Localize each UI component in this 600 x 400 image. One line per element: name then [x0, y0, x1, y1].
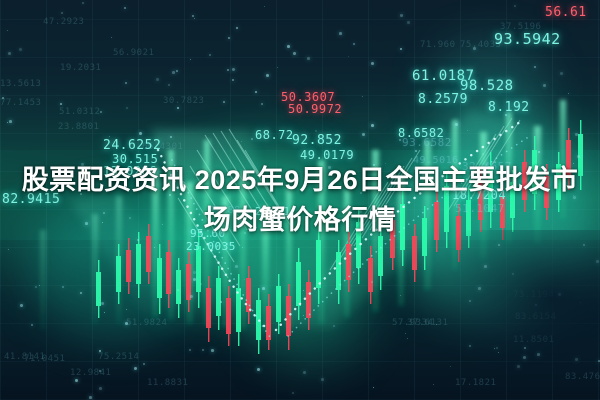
particle-dot — [170, 136, 172, 138]
particle-dot — [60, 103, 62, 105]
particle-dot — [99, 350, 101, 352]
particle-dot — [560, 72, 563, 75]
particle-dot — [255, 91, 257, 93]
particle-dot — [31, 324, 33, 326]
particle-dot — [473, 47, 476, 50]
particle-dot — [190, 295, 193, 298]
particle-dot — [82, 2, 84, 4]
particle-dot — [189, 349, 191, 351]
particle-dot — [61, 12, 63, 14]
particle-dot — [251, 138, 253, 140]
particle-dot — [8, 52, 11, 55]
particle-dot — [19, 48, 22, 51]
particle-dot — [89, 396, 92, 399]
particle-dot — [111, 37, 112, 38]
particle-dot — [241, 141, 242, 142]
particle-dot — [538, 151, 540, 153]
particle-dot — [333, 325, 335, 327]
particle-dot — [172, 71, 175, 74]
particle-dot — [505, 114, 507, 116]
page-title-line-1: 股票配资资讯 2025年9月26日全国主要批发市 — [0, 160, 600, 200]
page-title-line-2: 场肉蟹价格行情 — [0, 200, 600, 240]
particle-dot — [209, 54, 211, 56]
particle-dot — [232, 68, 235, 71]
particle-dot — [307, 57, 310, 60]
particle-dot — [543, 84, 546, 87]
particle-dot — [75, 379, 78, 382]
particle-dot — [126, 107, 128, 109]
particle-dot — [139, 132, 142, 135]
particle-dot — [176, 70, 178, 72]
particle-dot — [100, 111, 102, 113]
particle-dot — [192, 15, 194, 17]
particle-dot — [177, 107, 179, 109]
particle-dot — [339, 32, 342, 35]
particle-dot — [293, 52, 296, 55]
particle-dot — [423, 128, 425, 130]
page-title: 股票配资资讯 2025年9月26日全国主要批发市 场肉蟹价格行情 — [0, 160, 600, 240]
particle-dot — [371, 62, 374, 65]
particle-dot — [575, 133, 578, 136]
particle-dot — [400, 48, 402, 50]
particle-dot — [9, 120, 12, 123]
particle-dot — [168, 84, 170, 86]
particle-dot — [400, 14, 403, 17]
particle-dot — [223, 101, 225, 103]
particle-dot — [156, 78, 159, 81]
particle-dot — [244, 279, 245, 280]
particle-dot — [577, 155, 580, 158]
background-right-vignette — [370, 230, 600, 400]
particle-dot — [303, 371, 306, 374]
particle-dot — [257, 368, 260, 371]
particle-dot — [371, 124, 374, 127]
particle-dot — [455, 123, 458, 126]
particle-dot — [415, 150, 417, 152]
particle-dot — [287, 45, 290, 48]
particle-dot — [228, 37, 230, 39]
particle-dot — [99, 387, 102, 390]
particle-dot — [353, 43, 355, 45]
particle-dot — [514, 5, 516, 7]
particle-dot — [262, 287, 265, 290]
particle-dot — [125, 322, 128, 325]
particle-dot — [134, 367, 137, 370]
particle-dot — [235, 265, 238, 268]
particle-dot — [407, 21, 410, 24]
particle-dot — [232, 79, 234, 81]
particle-dot — [211, 349, 214, 352]
particle-dot — [266, 74, 269, 77]
particle-dot — [362, 133, 365, 136]
particle-dot — [101, 302, 104, 305]
banner-canvas: 93.594256.6161.018798.5288.25798.1928.65… — [0, 0, 600, 400]
particle-dot — [321, 378, 324, 381]
particle-dot — [20, 304, 23, 307]
particle-dot — [193, 278, 196, 281]
particle-dot — [193, 271, 196, 274]
